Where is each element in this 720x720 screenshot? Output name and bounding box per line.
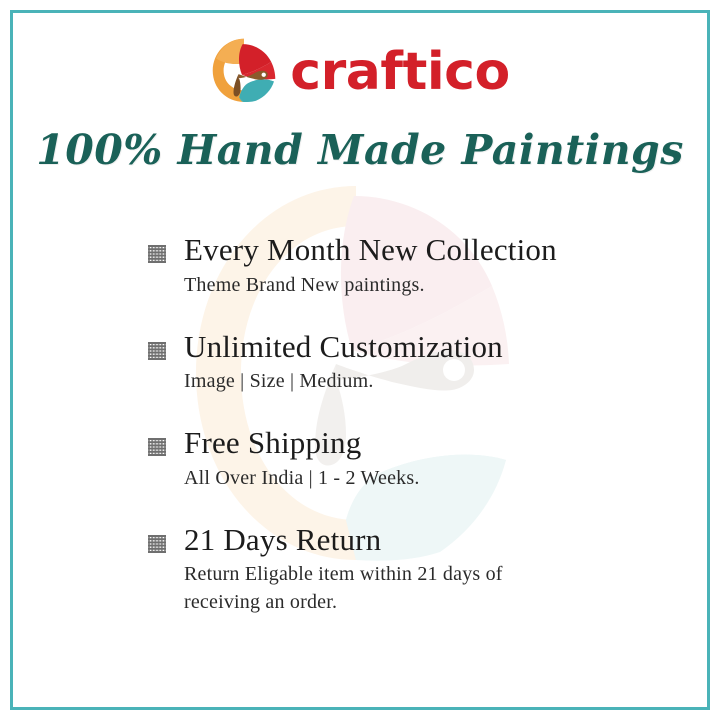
brand-wordmark: craftico bbox=[290, 46, 509, 98]
feature-text: Every Month New Collection Theme Brand N… bbox=[184, 232, 616, 299]
feature-title: Every Month New Collection bbox=[184, 232, 616, 269]
list-item: Unlimited Customization Image | Size | M… bbox=[146, 329, 616, 396]
brand-logo: craftico bbox=[0, 32, 720, 108]
woven-square-bullet-icon bbox=[146, 533, 168, 555]
list-item: 21 Days Return Return Eligable item with… bbox=[146, 522, 616, 617]
feature-text: Unlimited Customization Image | Size | M… bbox=[184, 329, 616, 396]
feature-text: 21 Days Return Return Eligable item with… bbox=[184, 522, 616, 617]
feature-title: Unlimited Customization bbox=[184, 329, 616, 366]
promo-poster: craftico 100% Hand Made Paintings bbox=[0, 0, 720, 720]
woven-square-bullet-icon bbox=[146, 436, 168, 458]
feature-title: Free Shipping bbox=[184, 425, 616, 462]
feature-subtitle: All Over India | 1 - 2 Weeks. bbox=[184, 464, 616, 492]
feature-subtitle: Image | Size | Medium. bbox=[184, 367, 616, 395]
page-title: 100% Hand Made Paintings bbox=[0, 128, 720, 173]
feature-title: 21 Days Return bbox=[184, 522, 616, 559]
woven-square-bullet-icon bbox=[146, 340, 168, 362]
list-item: Every Month New Collection Theme Brand N… bbox=[146, 232, 616, 299]
feature-list: Every Month New Collection Theme Brand N… bbox=[146, 232, 616, 616]
feature-text: Free Shipping All Over India | 1 - 2 Wee… bbox=[184, 425, 616, 492]
craftico-c-brush-logo-icon bbox=[210, 36, 278, 104]
list-item: Free Shipping All Over India | 1 - 2 Wee… bbox=[146, 425, 616, 492]
woven-square-bullet-icon bbox=[146, 243, 168, 265]
feature-subtitle: Theme Brand New paintings. bbox=[184, 271, 616, 299]
feature-subtitle: Return Eligable item within 21 days of r… bbox=[184, 560, 544, 616]
